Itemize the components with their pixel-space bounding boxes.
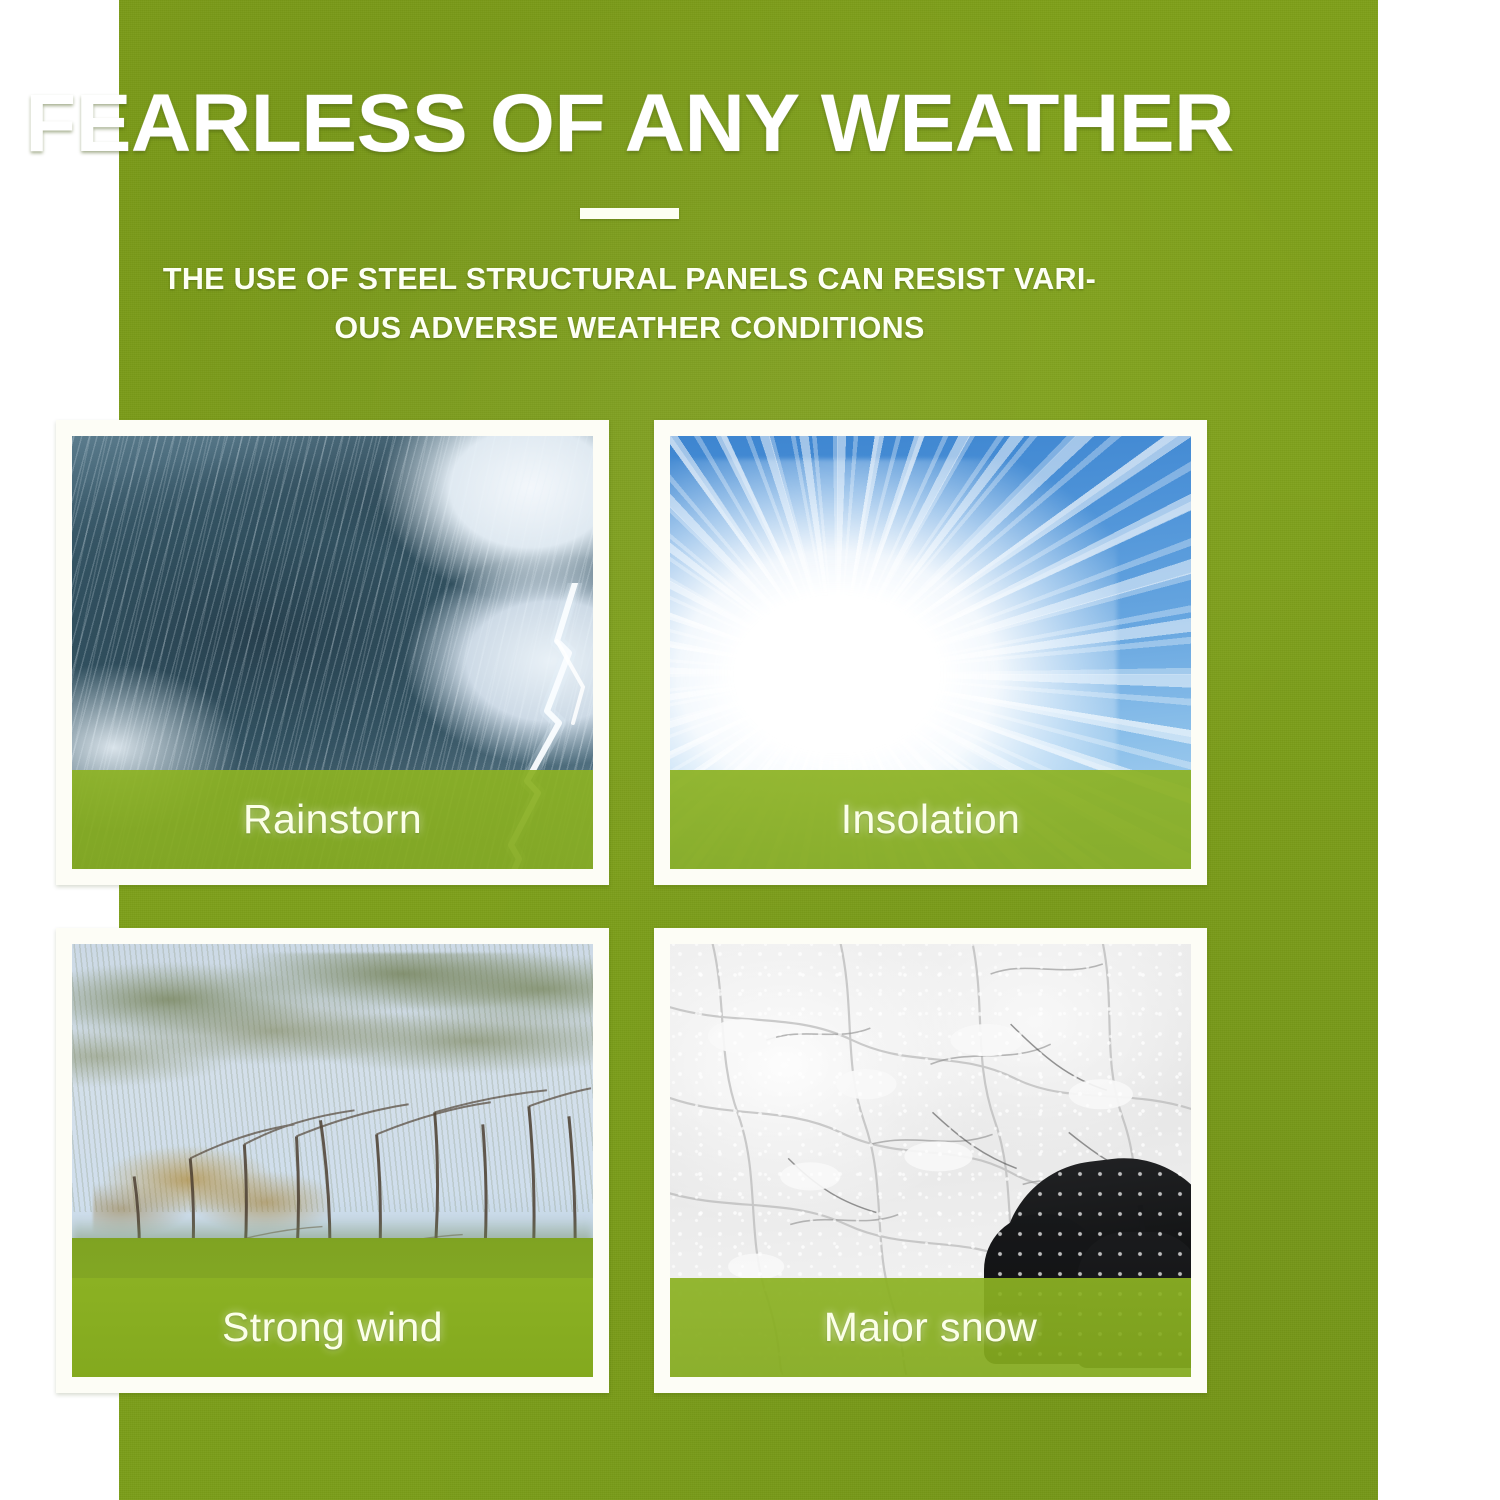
poster-canvas: FEARLESS OF ANY WEATHER THE USE OF STEEL… (0, 0, 1500, 1500)
strong-wind-caption: Strong wind (222, 1304, 443, 1351)
major-snow-photo: Maior snow (670, 944, 1191, 1377)
title-divider (580, 208, 679, 219)
rainstorm-caption-band: Rainstorn (72, 770, 593, 869)
weather-card-grid: Rainstorn Insolation (56, 420, 1206, 1393)
insolation-caption-band: Insolation (670, 770, 1191, 869)
rainstorm-photo: Rainstorn (72, 436, 593, 869)
weather-card-major-snow[interactable]: Maior snow (654, 928, 1207, 1393)
subtitle-line-1: THE USE OF STEEL STRUCTURAL PANELS CAN R… (163, 262, 1096, 296)
strong-wind-caption-band: Strong wind (72, 1278, 593, 1377)
subtitle-line-2: OUS ADVERSE WEATHER CONDITIONS (100, 304, 1160, 353)
weather-card-rainstorm[interactable]: Rainstorn (56, 420, 609, 885)
header: FEARLESS OF ANY WEATHER THE USE OF STEEL… (0, 0, 1259, 353)
weather-card-strong-wind[interactable]: Strong wind (56, 928, 609, 1393)
insolation-caption: Insolation (841, 796, 1021, 843)
major-snow-caption: Maior snow (824, 1304, 1038, 1351)
rainstorm-caption: Rainstorn (243, 796, 422, 843)
subtitle: THE USE OF STEEL STRUCTURAL PANELS CAN R… (100, 255, 1160, 354)
major-snow-caption-band: Maior snow (670, 1278, 1191, 1377)
weather-card-insolation[interactable]: Insolation (654, 420, 1207, 885)
page-title: FEARLESS OF ANY WEATHER (0, 0, 1272, 166)
strong-wind-photo: Strong wind (72, 944, 593, 1377)
insolation-photo: Insolation (670, 436, 1191, 869)
